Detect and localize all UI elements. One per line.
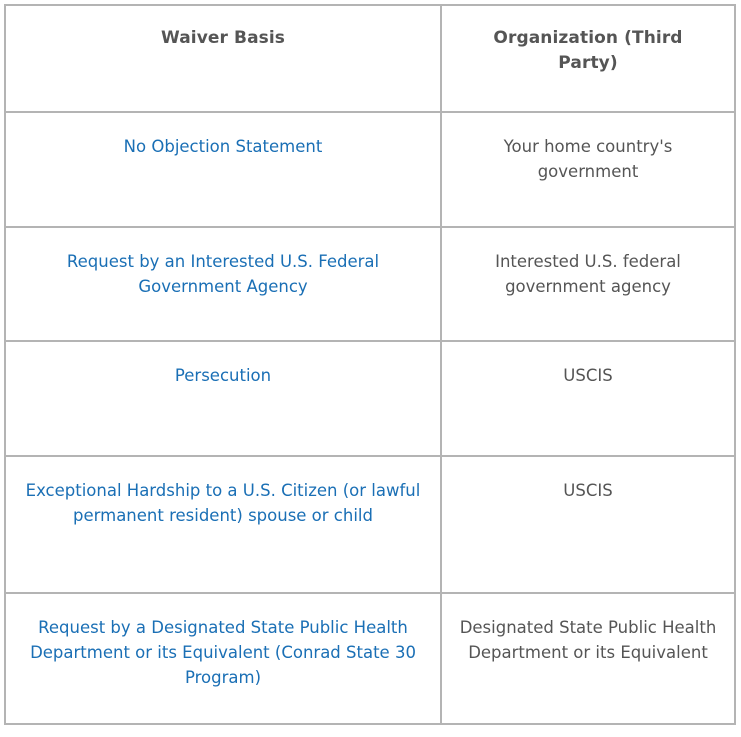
table-row: Exceptional Hardship to a U.S. Citizen (… <box>5 456 735 593</box>
cell-organization: USCIS <box>441 456 735 593</box>
table-row: Request by an Interested U.S. Federal Go… <box>5 227 735 341</box>
table-row: No Objection Statement Your home country… <box>5 112 735 227</box>
waiver-basis-table: Waiver Basis Organization (Third Party) … <box>4 4 736 725</box>
column-header-organization: Organization (Third Party) <box>441 5 735 112</box>
table-header-row: Waiver Basis Organization (Third Party) <box>5 5 735 112</box>
table-row: Persecution USCIS <box>5 341 735 456</box>
waiver-basis-link-exceptional-hardship[interactable]: Exceptional Hardship to a U.S. Citizen (… <box>26 481 421 525</box>
table-body: No Objection Statement Your home country… <box>5 112 735 724</box>
waiver-basis-link-interested-us-federal-government-agency[interactable]: Request by an Interested U.S. Federal Go… <box>67 252 379 296</box>
cell-organization: Interested U.S. federal government agenc… <box>441 227 735 341</box>
waiver-basis-link-persecution[interactable]: Persecution <box>175 366 271 385</box>
waiver-basis-link-no-objection-statement[interactable]: No Objection Statement <box>124 137 323 156</box>
cell-waiver-basis: Persecution <box>5 341 441 456</box>
cell-organization: Your home country's government <box>441 112 735 227</box>
waiver-table-container: Waiver Basis Organization (Third Party) … <box>0 0 741 737</box>
cell-waiver-basis: No Objection Statement <box>5 112 441 227</box>
table-header: Waiver Basis Organization (Third Party) <box>5 5 735 112</box>
cell-waiver-basis: Request by a Designated State Public Hea… <box>5 593 441 724</box>
table-row: Request by a Designated State Public Hea… <box>5 593 735 724</box>
cell-organization: Designated State Public Health Departmen… <box>441 593 735 724</box>
waiver-basis-link-conrad-state-30-program[interactable]: Request by a Designated State Public Hea… <box>30 618 416 687</box>
cell-waiver-basis: Request by an Interested U.S. Federal Go… <box>5 227 441 341</box>
column-header-waiver-basis: Waiver Basis <box>5 5 441 112</box>
cell-organization: USCIS <box>441 341 735 456</box>
cell-waiver-basis: Exceptional Hardship to a U.S. Citizen (… <box>5 456 441 593</box>
